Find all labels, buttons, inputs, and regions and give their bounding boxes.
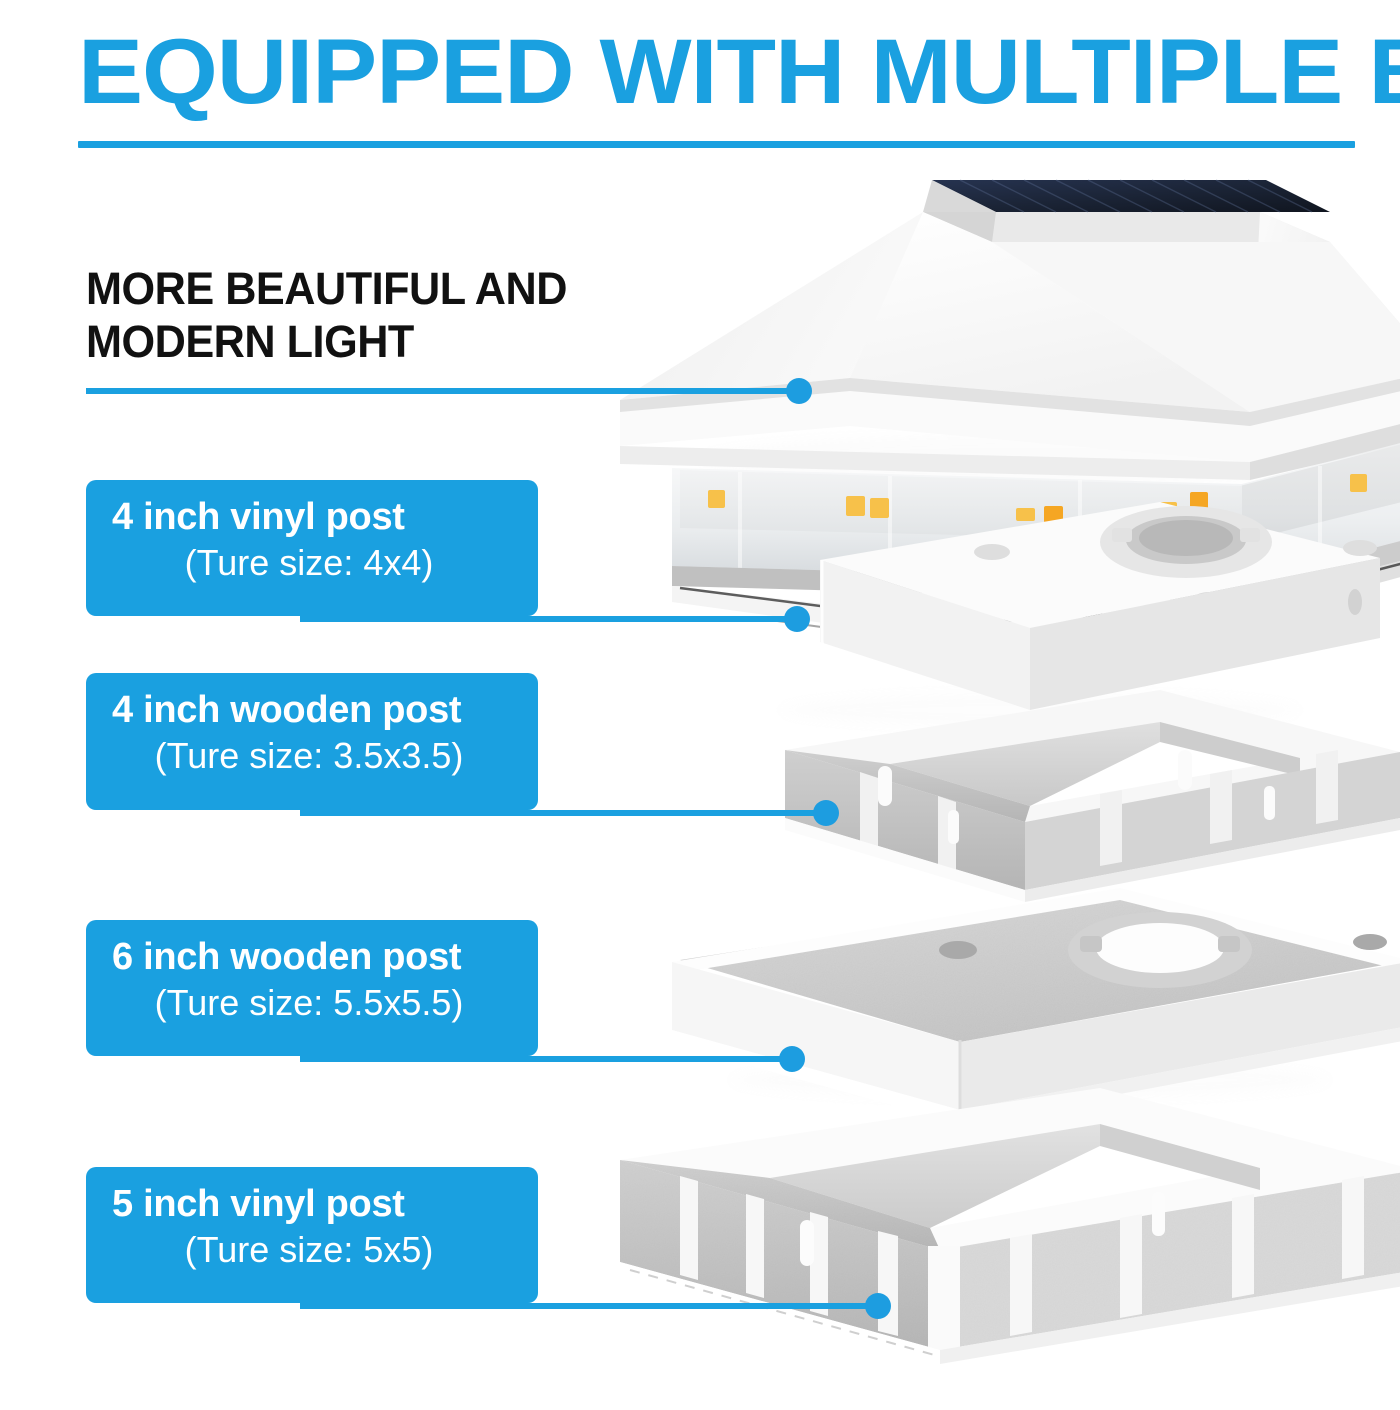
leader-dot-light-head [786,378,812,404]
solar-post-cap-light [620,180,1400,646]
callout-vinyl-4[interactable]: 4 inch vinyl post (Ture size: 4x4) [86,480,538,616]
base-plate-6in-wooden [672,888,1400,1140]
leader-line-light-head [86,388,800,394]
callout-title-vinyl-5: 5 inch vinyl post [112,1181,512,1227]
callout-title-vinyl-4: 4 inch vinyl post [112,494,512,540]
product-illustration [560,150,1400,1410]
leader-dot-wooden-6 [779,1046,805,1072]
infographic-canvas: EQUIPPED WITH MULTIPLE BASES MORE BEAUTI… [0,0,1400,1400]
led-chips [708,474,1367,523]
center-boss-6in [1068,912,1252,988]
subtitle-line-2: MODERN LIGHT [86,315,624,368]
callout-size-wooden-6: (Ture size: 5.5x5.5) [112,980,512,1026]
callout-size-vinyl-5: (Ture size: 5x5) [112,1227,512,1273]
callout-vinyl-5[interactable]: 5 inch vinyl post (Ture size: 5x5) [86,1167,538,1303]
callout-size-vinyl-4: (Ture size: 4x4) [112,540,512,586]
callout-title-wooden-6: 6 inch wooden post [112,934,512,980]
base-frame-4in-wooden [785,690,1400,902]
base-plate-4in-vinyl [780,502,1380,728]
callout-title-wooden-4: 4 inch wooden post [112,687,512,733]
subtitle-block: MORE BEAUTIFUL AND MODERN LIGHT [86,262,624,368]
callout-size-wooden-4: (Ture size: 3.5x3.5) [112,733,512,779]
leader-dot-wooden-4 [813,800,839,826]
leader-line-vinyl-4 [300,616,796,622]
base-frame-5in-vinyl [620,1088,1400,1364]
subtitle-line-1: MORE BEAUTIFUL AND [86,262,624,315]
page-title: EQUIPPED WITH MULTIPLE BASES [78,24,1400,120]
leader-line-vinyl-5 [300,1303,878,1309]
solar-panel [923,180,1330,242]
callout-wooden-4[interactable]: 4 inch wooden post (Ture size: 3.5x3.5) [86,673,538,810]
leader-dot-vinyl-5 [865,1293,891,1319]
leader-line-wooden-4 [300,810,827,816]
leader-dot-vinyl-4 [784,606,810,632]
light-housing [620,212,1400,480]
leader-line-wooden-6 [300,1056,792,1062]
title-divider [78,141,1355,148]
center-boss-4in [1100,506,1272,578]
callout-wooden-6[interactable]: 6 inch wooden post (Ture size: 5.5x5.5) [86,920,538,1056]
